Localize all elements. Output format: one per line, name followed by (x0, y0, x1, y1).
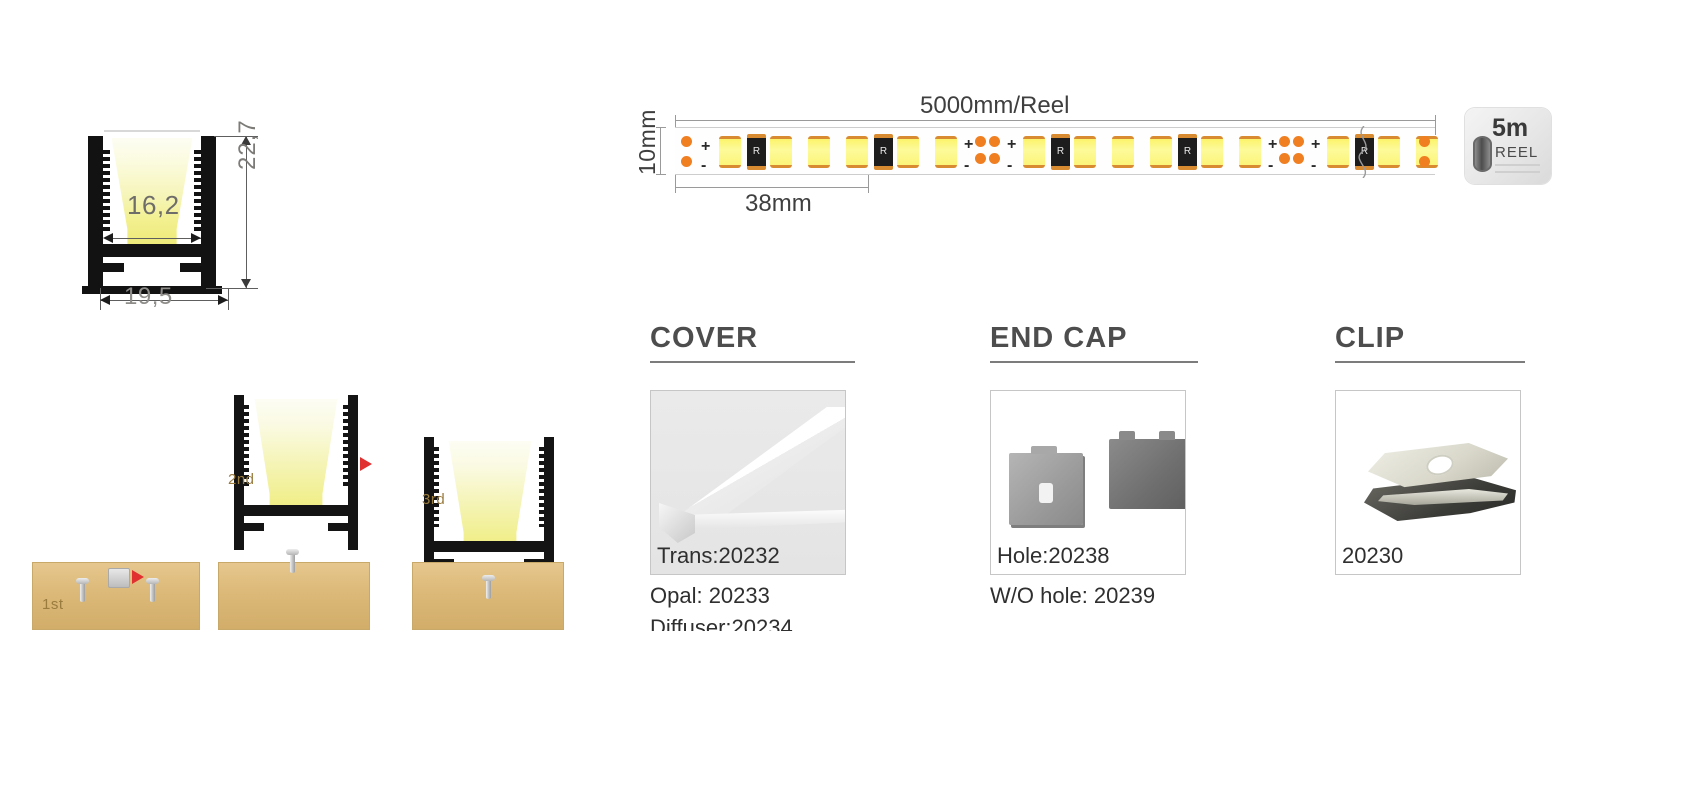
resistor: R (747, 134, 766, 170)
polarity-plus-3: + (1007, 140, 1016, 150)
screw-head-left (76, 578, 89, 584)
polarity-plus-4: + (1268, 140, 1277, 150)
strip-pitch-ext-right (868, 175, 869, 193)
accessory-code-end-cap-no-hole: W/O hole: 20239 (990, 583, 1205, 609)
cut-point-marker (1279, 136, 1305, 164)
reel-spool-icon (1473, 136, 1492, 172)
led-strip-board: + - R R + - + - R (675, 127, 1435, 175)
profile-mini-wall-right-2 (348, 395, 358, 519)
led-chip (935, 136, 957, 168)
profile-mini-base-3 (424, 541, 554, 552)
accessory-rule-clip (1335, 361, 1525, 363)
profile-mini-flange-left-2 (242, 523, 264, 531)
extension-line-outer-right (228, 288, 229, 310)
strip-pitch-dimension-line (675, 187, 868, 188)
profile-mini-wall-left-2 (234, 395, 244, 519)
dimension-arrow-down (241, 279, 251, 288)
profile-mini-flange-right-2 (328, 523, 350, 531)
strip-height-label: 10mm (634, 109, 661, 175)
led-chip (897, 136, 919, 168)
accessory-image-cover: Trans:20232 (650, 390, 846, 575)
accessory-title-clip: CLIP (1335, 322, 1535, 361)
profile-mini-wall-right-3 (544, 437, 554, 555)
reel-badge: 5m REEL (1465, 108, 1551, 184)
strip-pitch-label: 38mm (745, 190, 812, 218)
led-chip (1201, 136, 1223, 168)
profile-mini-teeth-right-3 (539, 447, 544, 527)
led-chip (808, 136, 830, 168)
product-datasheet-page: 22,7 16,2 19,5 1st (0, 0, 1690, 790)
profile-teeth-right (194, 150, 201, 232)
profile-mini-base-2 (234, 505, 358, 516)
dimension-label-height: 22,7 (234, 119, 262, 170)
profile-mini-glow-2 (252, 399, 340, 507)
profile-base-plate (88, 244, 216, 257)
resistor: R (1178, 134, 1197, 170)
screw-shaft-left (80, 582, 85, 602)
cut-point-marker (975, 136, 1001, 164)
dimension-arrow-left-inner (103, 233, 113, 243)
direction-arrow-icon-1 (132, 570, 144, 584)
end-cap-tab-b2 (1159, 431, 1175, 440)
screw-shaft-right (150, 582, 155, 602)
solder-pad-positive-end (1419, 136, 1430, 147)
screw-head-3 (482, 575, 495, 581)
accessory-section-cover: COVER Trans:20232 Opal: 20233 Diffuser:2… (650, 322, 860, 631)
profile-mini-foot-right-2 (348, 516, 358, 550)
profile-mini-foot-left-2 (234, 516, 244, 550)
led-chip (1327, 136, 1349, 168)
accessory-code-cover-diffuser: Diffuser:20234 (650, 617, 860, 631)
accessory-rule-cover (650, 361, 855, 363)
led-chip (846, 136, 868, 168)
strip-length-dimension-line (675, 120, 1435, 121)
led-chip (1150, 136, 1172, 168)
direction-arrow-icon-2 (360, 457, 372, 471)
resistor: R (1051, 134, 1070, 170)
reel-word-label: REEL (1495, 144, 1538, 161)
end-cap-cable-hole (1039, 483, 1053, 503)
strip-break-symbol (1351, 126, 1377, 178)
profile-wall-right (201, 136, 216, 260)
screw-head-2 (286, 549, 299, 555)
install-step-3: 3rd (412, 415, 564, 630)
accessory-section-end-cap: END CAP Hole:20238 W/O hole: 20239 (990, 322, 1205, 609)
dimension-arrow-right-outer (218, 295, 228, 305)
polarity-plus-1: + (701, 142, 710, 152)
strip-height-ext-line (660, 127, 661, 175)
extension-line-bottom (206, 288, 258, 289)
accessory-rule-end-cap (990, 361, 1198, 363)
clip-illustration (1362, 443, 1521, 529)
polarity-minus-3: - (1007, 161, 1012, 171)
led-chip (1378, 136, 1400, 168)
mounting-clip-1 (108, 568, 130, 588)
install-step-label-2: 2nd (228, 471, 255, 488)
install-step-2: 2nd (218, 395, 370, 630)
profile-flange-right (180, 263, 206, 272)
dimension-line-inner-width (105, 238, 201, 239)
reel-decor-line-2 (1495, 171, 1540, 173)
dimension-arrow-left-outer (100, 295, 110, 305)
screw-head-right (146, 578, 159, 584)
accessory-image-end-cap: Hole:20238 (990, 390, 1186, 575)
cover-top-face (663, 407, 846, 527)
screw-shaft-3 (486, 579, 491, 599)
polarity-minus-4: - (1268, 161, 1273, 171)
profile-mini-teeth-left-3 (434, 447, 439, 527)
polarity-minus-2: - (964, 161, 969, 171)
install-step-label-3: 3rd (422, 491, 445, 508)
accessory-code-end-cap-hole: Hole:20238 (997, 543, 1110, 569)
accessory-title-cover: COVER (650, 322, 860, 361)
solder-pad-negative-end (1419, 156, 1430, 167)
install-step-1: 1st (32, 520, 200, 630)
led-chip (1074, 136, 1096, 168)
led-chip (770, 136, 792, 168)
led-chip (719, 136, 741, 168)
end-cap-without-hole (1109, 439, 1186, 509)
dimension-label-outer-width: 19,5 (124, 283, 173, 311)
end-cap-with-hole (1009, 453, 1083, 525)
dimension-arrow-right-inner (191, 233, 201, 243)
accessory-code-clip: 20230 (1342, 543, 1403, 569)
strip-ext-line-right (1435, 115, 1436, 135)
strip-height-tick-bottom (656, 174, 666, 175)
profile-cross-section-diagram: 22,7 16,2 19,5 (0, 0, 620, 360)
strip-length-label: 5000mm/Reel (920, 92, 1069, 120)
accessory-image-clip: 20230 (1335, 390, 1521, 575)
led-strip-diagram: 5000mm/Reel 10mm 38mm + - R R (620, 70, 1690, 230)
end-cap-tab-a (1031, 446, 1057, 454)
profile-teeth-left (103, 150, 110, 232)
reel-decor-line-1 (1495, 164, 1540, 166)
led-chip (1023, 136, 1045, 168)
polarity-plus-2: + (964, 140, 973, 150)
installation-steps-diagram: 1st 2nd (0, 370, 620, 630)
strip-pitch-ext-left (675, 175, 676, 193)
accessory-code-cover-trans: Trans:20232 (657, 543, 780, 569)
reel-size-label: 5m (1492, 114, 1528, 143)
end-cap-tab-b1 (1119, 431, 1135, 440)
install-step-label-1: 1st (42, 596, 64, 613)
accessory-section-clip: CLIP 20230 (1335, 322, 1535, 575)
led-chip (1239, 136, 1261, 168)
led-chip (1112, 136, 1134, 168)
profile-mini-teeth-right-2 (343, 405, 348, 489)
profile-wall-left (88, 136, 103, 260)
solder-pad-negative (681, 156, 692, 167)
polarity-plus-5: + (1311, 140, 1320, 150)
accessory-title-end-cap: END CAP (990, 322, 1205, 361)
profile-mini-glow-3 (446, 441, 534, 545)
dimension-label-inner-width: 16,2 (127, 190, 180, 221)
strip-height-tick-top (656, 127, 666, 128)
polarity-minus-1: - (701, 161, 706, 171)
accessory-code-cover-opal: Opal: 20233 (650, 583, 860, 609)
resistor: R (874, 134, 893, 170)
solder-pad-positive (681, 136, 692, 147)
polarity-minus-5: - (1311, 161, 1316, 171)
profile-flange-left (98, 263, 124, 272)
screw-shaft-2 (290, 553, 295, 573)
